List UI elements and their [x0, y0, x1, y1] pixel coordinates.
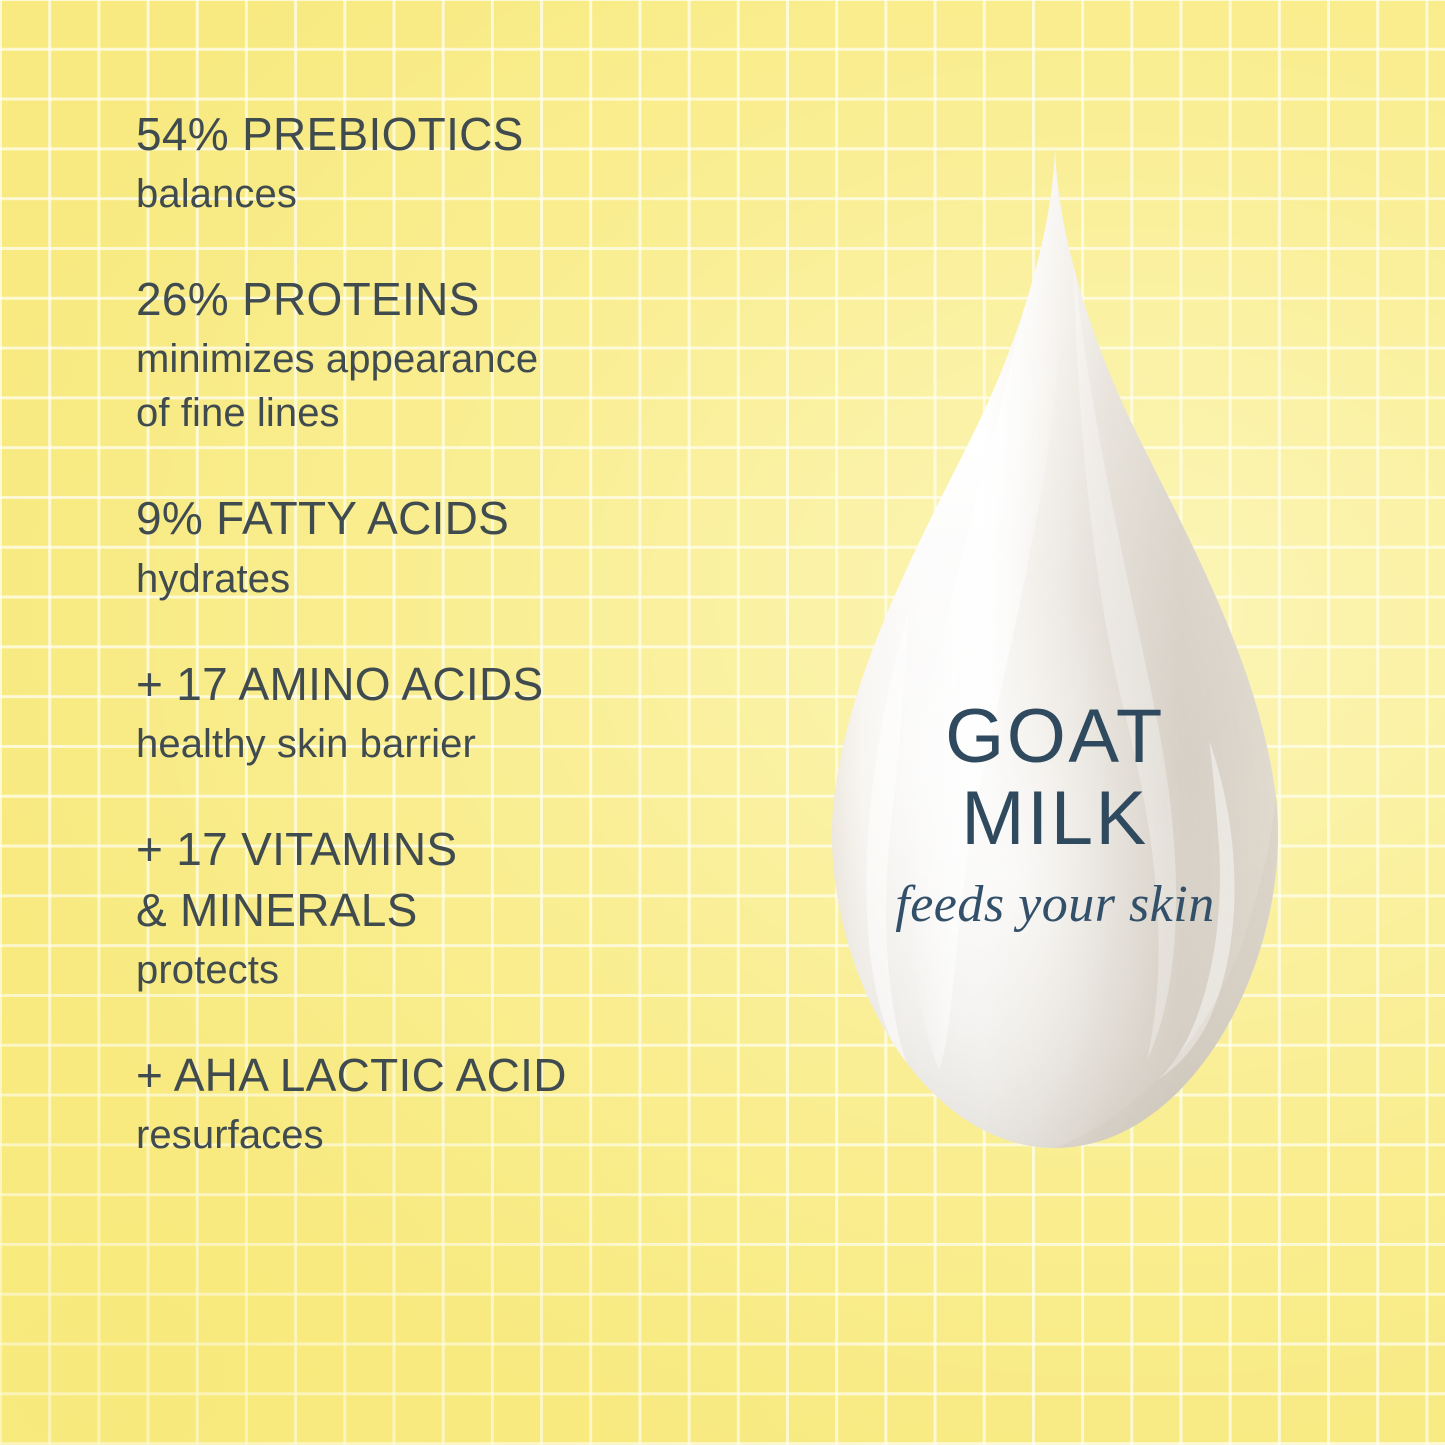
droplet-label: GOAT MILK feeds your skin	[805, 700, 1305, 934]
milk-droplet-graphic: GOAT MILK feeds your skin	[805, 140, 1305, 1160]
benefit-item-prebiotics: 54% PREBIOTICS balances	[136, 104, 836, 221]
product-infographic: 54% PREBIOTICS balances 26% PROTEINS min…	[0, 0, 1445, 1445]
droplet-headline-line1: GOAT	[805, 700, 1305, 774]
benefit-item-vitamins-minerals: + 17 VITAMINS & MINERALS protects	[136, 819, 836, 997]
benefit-subtitle: resurfaces	[136, 1108, 836, 1162]
benefit-subtitle: hydrates	[136, 552, 836, 606]
benefit-subtitle: balances	[136, 167, 836, 221]
benefit-list: 54% PREBIOTICS balances 26% PROTEINS min…	[136, 104, 836, 1162]
benefit-subtitle: protects	[136, 943, 836, 997]
benefit-item-fatty-acids: 9% FATTY ACIDS hydrates	[136, 488, 836, 605]
benefit-title: + AHA LACTIC ACID	[136, 1045, 836, 1106]
benefit-title: 54% PREBIOTICS	[136, 104, 836, 165]
benefit-title: + 17 AMINO ACIDS	[136, 654, 836, 715]
benefit-title: + 17 VITAMINS & MINERALS	[136, 819, 836, 941]
benefit-subtitle: healthy skin barrier	[136, 717, 836, 771]
droplet-tagline: feeds your skin	[805, 875, 1305, 934]
droplet-headline-line2: MILK	[805, 782, 1305, 856]
benefit-item-amino-acids: + 17 AMINO ACIDS healthy skin barrier	[136, 654, 836, 771]
benefit-title: 9% FATTY ACIDS	[136, 488, 836, 549]
benefit-subtitle: minimizes appearance of fine lines	[136, 332, 836, 440]
benefit-title: 26% PROTEINS	[136, 269, 836, 330]
benefit-item-aha-lactic-acid: + AHA LACTIC ACID resurfaces	[136, 1045, 836, 1162]
milk-droplet-icon	[805, 140, 1305, 1160]
benefit-item-proteins: 26% PROTEINS minimizes appearance of fin…	[136, 269, 836, 440]
